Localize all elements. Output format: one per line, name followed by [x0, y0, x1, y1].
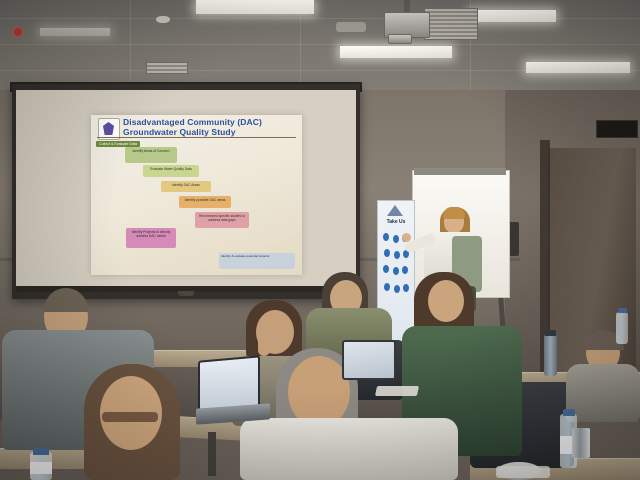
wall-fixture — [596, 120, 638, 138]
laptop-screen[interactable] — [342, 340, 396, 380]
ceiling-light-panel — [470, 10, 556, 22]
bottle-cap[interactable] — [563, 409, 575, 416]
presenter-hand — [402, 233, 411, 242]
slide-title-line1: Disadvantaged Community (DAC) — [123, 117, 295, 127]
slide-step-box: Identify possible DAC areas — [179, 196, 231, 208]
ceiling-tile-seam — [0, 44, 640, 45]
hvac-vent — [146, 62, 188, 74]
travel-bottle[interactable] — [544, 334, 557, 376]
ceiling-light-panel — [40, 28, 110, 36]
cone-graphic-icon — [387, 205, 403, 216]
bottle-cap[interactable] — [33, 448, 49, 455]
hvac-vent — [424, 8, 478, 40]
slide-step-box: Recommend specific studies to address da… — [195, 212, 249, 228]
slide-title-line2: Groundwater Quality Study — [123, 127, 295, 137]
table-leg — [208, 432, 216, 476]
flipchart-clamp — [414, 168, 506, 175]
poster-title: Take Us — [380, 219, 412, 225]
presenter-bangs — [443, 207, 465, 219]
photo-scene: Disadvantaged Community (DAC) Groundwate… — [0, 0, 640, 480]
paper-sheet — [375, 386, 419, 396]
red-indicator-light — [14, 28, 22, 36]
slide-footer-note: Identify & evaluate potential projects — [219, 253, 295, 269]
paper-sheet — [496, 466, 550, 478]
headband-icon — [102, 412, 158, 422]
projector-lens — [388, 34, 412, 44]
attendee-torso — [240, 418, 458, 480]
ceiling-speaker — [336, 22, 366, 32]
slide-step-box: Identify Areas of Concern — [125, 147, 177, 163]
slide-divider — [97, 137, 296, 138]
aluminum-can[interactable] — [572, 428, 590, 458]
bottle-cap[interactable] — [545, 330, 556, 336]
screen-pull-handle[interactable] — [178, 291, 194, 296]
attendee-hand — [258, 330, 270, 356]
attendee-torso — [566, 364, 640, 422]
bottle-label — [30, 462, 52, 474]
slide-step-box: Identify Projects to directly address DA… — [126, 228, 176, 248]
ceiling-light-panel — [526, 62, 630, 73]
projection-screen: Disadvantaged Community (DAC) Groundwate… — [16, 90, 356, 292]
ceiling-light-panel — [196, 0, 314, 14]
ceiling-light-panel — [340, 46, 452, 58]
smoke-detector — [156, 16, 170, 23]
shield-icon — [103, 122, 114, 135]
slide-step-box: Identify DAC Areas — [161, 181, 211, 192]
presentation-slide: Disadvantaged Community (DAC) Groundwate… — [91, 115, 302, 275]
attendee-head — [428, 280, 464, 322]
bottle-cap[interactable] — [618, 308, 627, 313]
slide-step-box: Evaluate Water Quality Data — [143, 165, 199, 177]
slide-title: Disadvantaged Community (DAC) Groundwate… — [123, 117, 295, 137]
water-bottle[interactable] — [616, 312, 628, 344]
